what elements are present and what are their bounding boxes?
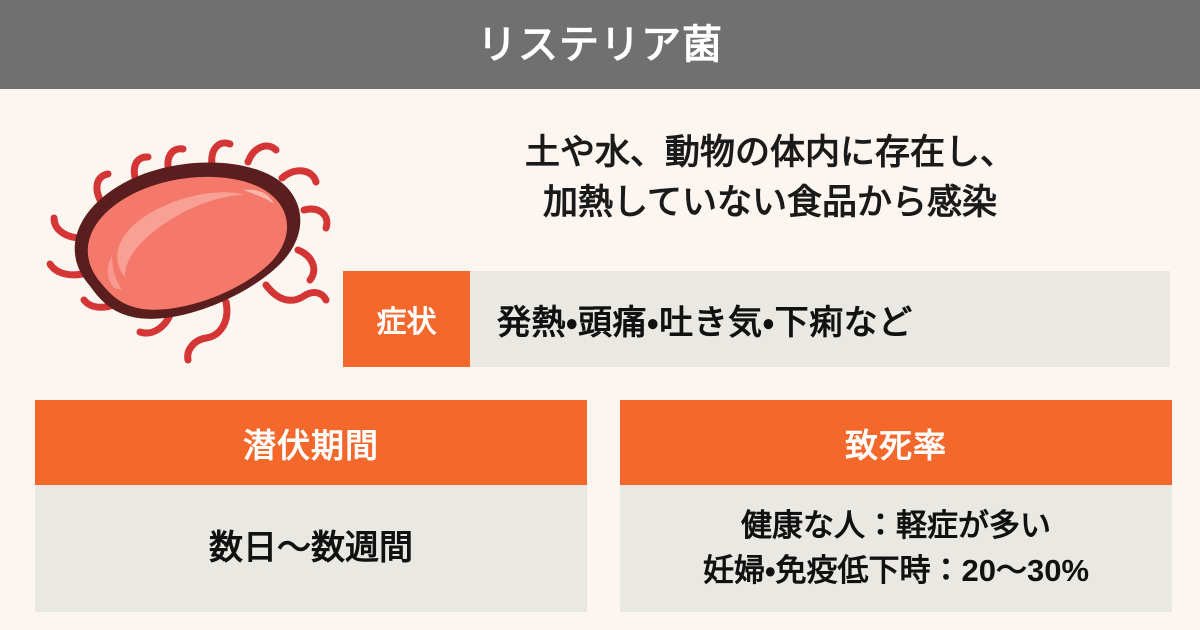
incubation-period-line-1: 数日〜数週間 <box>209 528 413 569</box>
page-title: リステリア菌 <box>477 25 723 65</box>
bacterium-body <box>75 163 301 319</box>
fatality-rate-body: 健康な人：軽症が多い 妊婦・免疫低下時：20〜30% <box>620 485 1172 612</box>
description-line-2: 加熱していない食品から感染 <box>460 178 1080 228</box>
fatality-rate-line-2: 妊婦・免疫低下時：20〜30% <box>703 549 1089 594</box>
description-text: 土や水、動物の体内に存在し、 加熱していない食品から感染 <box>460 128 1080 227</box>
symptoms-label-badge: 症状 <box>343 271 470 367</box>
symptoms-value: 発熱・頭痛・吐き気・下痢など <box>470 271 1170 367</box>
header-bar: リステリア菌 <box>0 0 1200 89</box>
fatality-rate-card: 致死率 健康な人：軽症が多い 妊婦・免疫低下時：20〜30% <box>620 400 1172 612</box>
symptoms-row: 症状 発熱・頭痛・吐き気・下痢など <box>343 271 1170 367</box>
incubation-period-card: 潜伏期間 数日〜数週間 <box>35 400 587 612</box>
fatality-rate-line-1: 健康な人：軽症が多い <box>741 504 1051 549</box>
fatality-rate-header: 致死率 <box>620 400 1172 485</box>
incubation-period-body: 数日〜数週間 <box>35 485 587 612</box>
description-line-1: 土や水、動物の体内に存在し、 <box>460 128 1080 178</box>
bacteria-illustration <box>30 138 342 373</box>
incubation-period-header: 潜伏期間 <box>35 400 587 485</box>
